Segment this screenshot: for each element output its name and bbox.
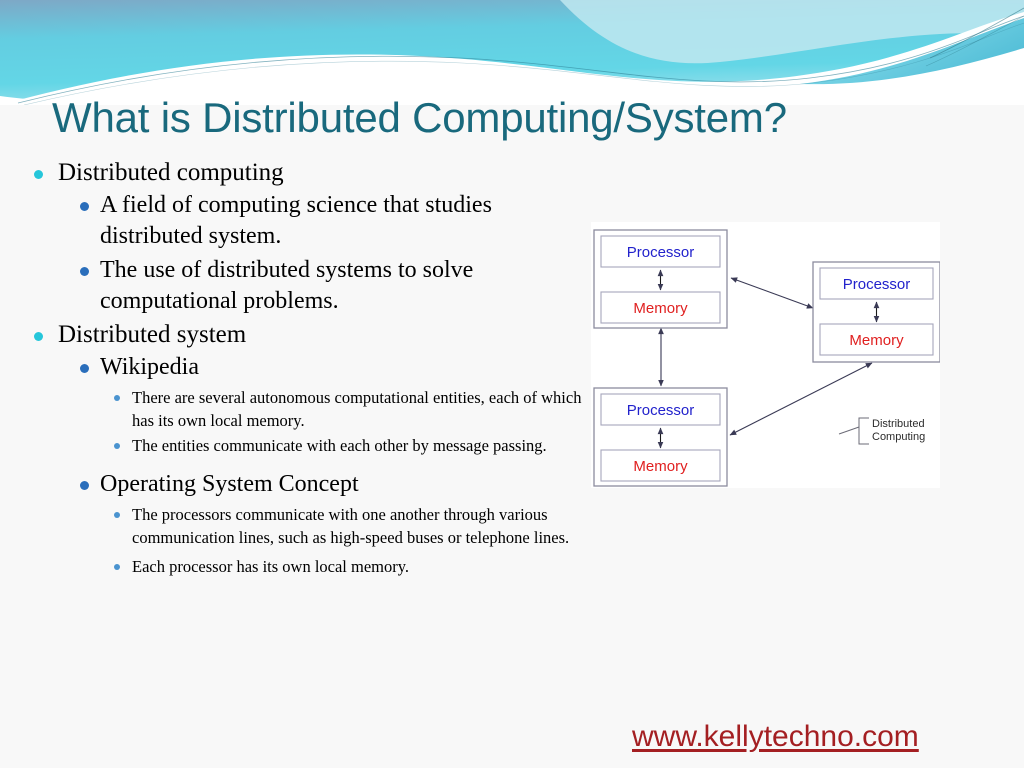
- bullet-dot-icon: [114, 395, 120, 401]
- bullet-item-level3: The processors communicate with one anot…: [22, 503, 582, 549]
- page-title: What is Distributed Computing/System?: [52, 96, 952, 140]
- bullet-item-level1: Distributed computing: [22, 158, 582, 188]
- callout-label-line1: Distributed: [872, 418, 925, 430]
- bullet-text: Operating System Concept: [100, 469, 582, 500]
- bullet-item-level1: Distributed system: [22, 320, 582, 350]
- bullet-item-level3: There are several autonomous computation…: [22, 386, 582, 432]
- bullet-text: Distributed computing: [58, 158, 582, 188]
- bullet-dot-icon: [80, 202, 89, 211]
- bullet-text: Wikipedia: [100, 352, 582, 383]
- bullet-dot-icon: [80, 364, 89, 373]
- callout-label-line2: Computing: [872, 431, 925, 443]
- bullet-item-level2: Operating System Concept: [22, 469, 582, 500]
- bullet-text: There are several autonomous computation…: [132, 386, 582, 432]
- bullet-item-level2: The use of distributed systems to solve …: [22, 255, 582, 317]
- node-right: Processor Memory: [813, 262, 940, 362]
- bullet-item-level2: A field of computing science that studie…: [22, 190, 582, 252]
- bullet-text: The entities communicate with each other…: [132, 434, 582, 457]
- bullet-item-level3: The entities communicate with each other…: [22, 434, 582, 457]
- processor-label: Processor: [627, 402, 695, 419]
- processor-label: Processor: [627, 244, 695, 261]
- bullet-item-level3: Each processor has its own local memory.: [22, 555, 582, 578]
- bullet-dot-icon: [114, 512, 120, 518]
- slide: What is Distributed Computing/System? Di…: [0, 0, 1024, 768]
- bullet-dot-icon: [34, 332, 43, 341]
- footer-website-link[interactable]: www.kellytechno.com: [632, 720, 919, 754]
- bullet-dot-icon: [34, 170, 43, 179]
- bullet-text: A field of computing science that studie…: [100, 190, 582, 252]
- bullet-text: Distributed system: [58, 320, 582, 350]
- processor-label: Processor: [843, 276, 911, 293]
- bullet-text: Each processor has its own local memory.: [132, 555, 582, 578]
- node-top-left: Processor Memory: [594, 230, 727, 328]
- bullet-item-level2: Wikipedia: [22, 352, 582, 383]
- bullet-text: The use of distributed systems to solve …: [100, 255, 582, 317]
- memory-label: Memory: [633, 458, 688, 475]
- bullet-dot-icon: [114, 564, 120, 570]
- memory-label: Memory: [633, 300, 688, 317]
- bullet-dot-icon: [80, 481, 89, 490]
- node-bottom-left: Processor Memory: [594, 388, 727, 486]
- distributed-computing-diagram: right node --> bottom-left node --> righ…: [591, 222, 940, 488]
- memory-label: Memory: [849, 332, 904, 349]
- bullet-text: The processors communicate with one anot…: [132, 503, 582, 549]
- bullet-dot-icon: [80, 267, 89, 276]
- header-wave-decoration: [0, 0, 1024, 105]
- bullet-list: Distributed computing A field of computi…: [22, 158, 582, 580]
- bullet-dot-icon: [114, 443, 120, 449]
